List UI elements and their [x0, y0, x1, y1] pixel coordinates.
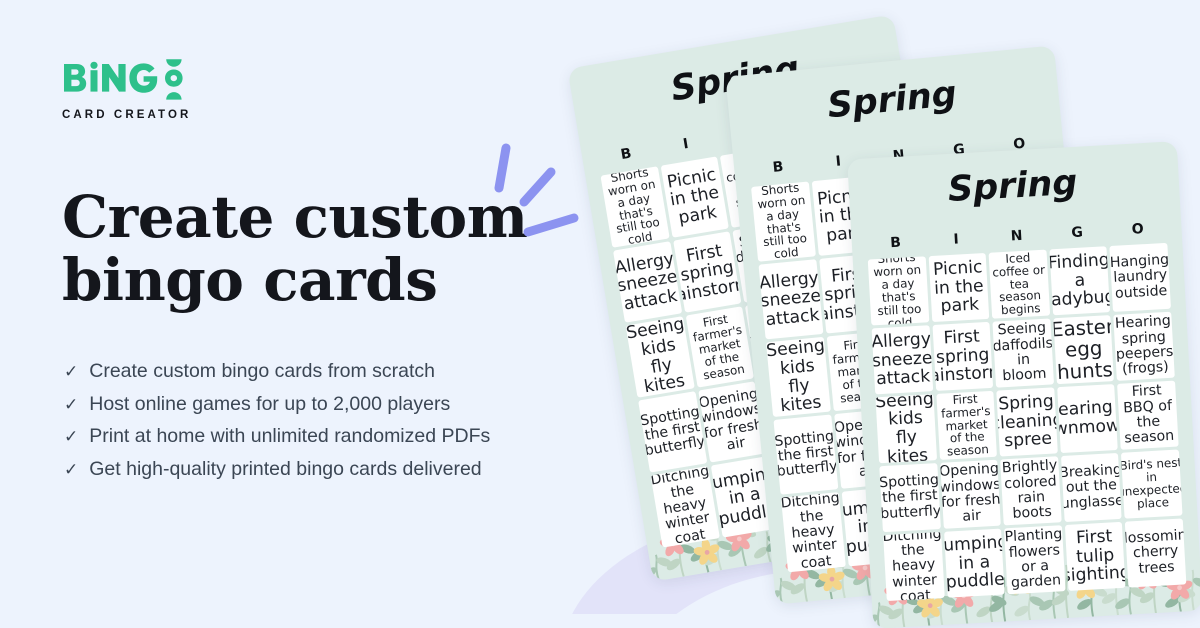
brand-logo[interactable]: CARD CREATOR	[62, 58, 302, 121]
bingo-cell[interactable]: Spotting the first butterfly	[773, 414, 838, 494]
feature-label: Create custom bingo cards from scratch	[89, 362, 435, 382]
bingo-cell[interactable]: First spring rainstorm	[932, 322, 993, 391]
bingo-cell[interactable]: Hearing spring peepers (frogs)	[1114, 312, 1175, 381]
bingo-cell[interactable]: Shorts worn on a day that's still too co…	[868, 256, 929, 325]
bingo-cell[interactable]: Spotting the first butterfly	[638, 391, 707, 473]
check-icon: ✓	[64, 396, 78, 413]
check-icon: ✓	[64, 363, 78, 380]
bingo-cell[interactable]: Finding a ladybug	[1049, 246, 1110, 315]
feature-label: Print at home with unlimited randomized …	[89, 427, 490, 447]
bingo-cell[interactable]: Ditching the heavy winter coat	[781, 492, 846, 572]
card-header-g: G	[1048, 223, 1106, 242]
bingo-cell[interactable]: Picnic in the park	[928, 253, 989, 322]
bingo-cell[interactable]: First farmer's market of the season	[936, 391, 997, 460]
bingo-cell[interactable]: Blossoming cherry trees	[1125, 518, 1186, 587]
bingo-card-front[interactable]: SpringBINGOShorts worn on a day that's s…	[847, 141, 1200, 628]
bingo-wordmark-icon	[62, 58, 190, 102]
bingo-cell[interactable]: Easter egg hunts	[1053, 315, 1114, 384]
bingo-cell[interactable]: Iced coffee or tea season begins	[989, 250, 1050, 319]
bingo-cell[interactable]: Brightly colored rain boots	[1000, 456, 1061, 525]
bingo-cell[interactable]: Hanging laundry outside	[1110, 243, 1171, 312]
hero-left-column: CARD CREATOR Create custom bingo cards ✓…	[0, 0, 620, 628]
bingo-cell[interactable]: Seeing kids fly kites	[875, 394, 936, 463]
list-item: ✓ Create custom bingo cards from scratch	[64, 362, 604, 382]
bingo-cell[interactable]: Picnic in the park	[660, 156, 729, 238]
bingo-cell[interactable]: Spring cleaning spree	[996, 387, 1057, 456]
bingo-card-stack: SpringBINGOShorts worn on a day that's s…	[560, 0, 1200, 628]
check-icon: ✓	[64, 428, 78, 445]
bingo-cell[interactable]: Seeing kids fly kites	[766, 337, 831, 417]
bingo-cell[interactable]: Seeing kids fly kites	[626, 316, 695, 398]
bingo-cell[interactable]: First BBQ of the season	[1117, 381, 1178, 450]
list-item: ✓ Host online games for up to 2,000 play…	[64, 395, 604, 415]
bingo-cell[interactable]: First farmer's market of the season	[685, 306, 754, 388]
headline-line-1: Create custom	[62, 183, 528, 251]
bingo-grid: Shorts worn on a day that's still too co…	[868, 243, 1187, 601]
card-title: Spring	[826, 74, 959, 126]
card-title: Spring	[947, 163, 1079, 210]
bingo-cell[interactable]: First tulip sighting	[1065, 522, 1126, 591]
bingo-cell[interactable]: Spotting the first butterfly	[879, 463, 940, 532]
feature-label: Host online games for up to 2,000 player…	[89, 395, 450, 415]
bingo-cell[interactable]: First spring rainstorm	[673, 231, 742, 313]
list-item: ✓ Print at home with unlimited randomize…	[64, 427, 604, 447]
card-header-i: I	[656, 132, 715, 157]
bingo-cell[interactable]: Bird's nest in unexpected place	[1121, 450, 1182, 519]
bingo-cell[interactable]: Opening windows for fresh air	[940, 460, 1001, 529]
bingo-cell[interactable]: Planting flowers or a garden	[1004, 525, 1065, 594]
bingo-cell[interactable]: Shorts worn on a day that's still too co…	[751, 182, 816, 262]
bingo-cell[interactable]: Seeing daffodils in bloom	[993, 318, 1054, 387]
bingo-cell[interactable]: Ditching the heavy winter coat	[651, 466, 720, 548]
card-header-b: B	[866, 233, 924, 252]
feature-list: ✓ Create custom bingo cards from scratch…	[64, 362, 604, 492]
bingo-cell[interactable]: Jumping in a puddle	[944, 529, 1005, 598]
bingo-cell[interactable]: Allergy sneeze attack	[613, 241, 682, 323]
card-header-b: B	[749, 157, 808, 178]
bingo-cell[interactable]: Hearing a lawnmower	[1057, 384, 1118, 453]
card-header-o: O	[1108, 220, 1166, 239]
card-header-n: N	[987, 227, 1045, 246]
bingo-cell[interactable]: Ditching the heavy winter coat	[883, 532, 944, 601]
card-header-i: I	[927, 230, 985, 249]
bingo-cell[interactable]: Breaking out the sunglasses	[1061, 453, 1122, 522]
headline-line-2: bingo cards	[62, 249, 582, 312]
sparkle-icon	[486, 140, 596, 250]
feature-label: Get high-quality printed bingo cards del…	[89, 460, 481, 480]
bingo-cell[interactable]: Allergy sneeze attack	[759, 259, 824, 339]
brand-tagline: CARD CREATOR	[62, 109, 302, 121]
check-icon: ✓	[64, 461, 78, 478]
bingo-cell[interactable]: Allergy sneeze attack	[872, 325, 933, 394]
list-item: ✓ Get high-quality printed bingo cards d…	[64, 460, 604, 480]
